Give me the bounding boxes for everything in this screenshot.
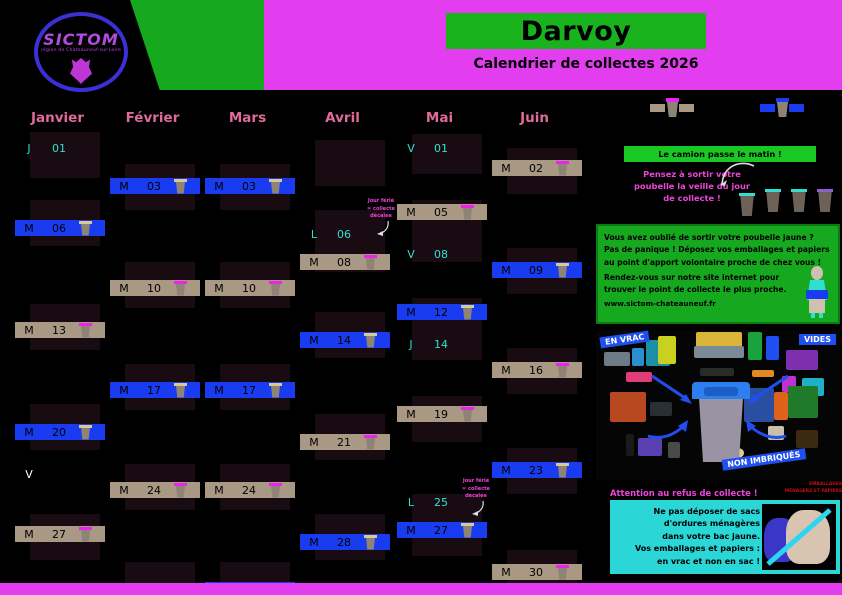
recycling-photo: EN VRAC VIDES NON IMBRIQUÉS	[596, 330, 840, 480]
warning-title: Attention au refus de collecte !	[610, 488, 758, 498]
day-number: 14	[425, 338, 457, 351]
day-number: 05	[425, 206, 457, 219]
month-column-juin: JuinM02M09M16M23M30	[487, 96, 582, 585]
day-letter: M	[300, 536, 328, 549]
street-bin-4	[817, 189, 833, 212]
arrow-icon-1	[650, 374, 694, 408]
month-name: Avril	[295, 110, 390, 126]
day-number: 03	[233, 180, 265, 193]
poster-subtitle: Calendrier de collectes 2026	[446, 56, 726, 72]
warning-line-4: Vos emballages et papiers :	[616, 543, 760, 555]
day-letter: M	[110, 282, 138, 295]
day-letter: M	[15, 324, 43, 337]
day-letter: L	[300, 228, 328, 241]
info-line-1: Vous avez oublié de sortir votre poubell…	[604, 226, 832, 244]
month-name: Mars	[200, 110, 295, 126]
holiday-note-arrow-icon	[375, 220, 391, 236]
calendar-grid: JanvierJ01M06M13M20VM27FévrierM03M10M17M…	[0, 96, 592, 585]
month-column-janvier: JanvierJ01M06M13M20VM27	[10, 96, 105, 585]
bin-icon-yellow	[269, 383, 282, 398]
bin-icon-yellow	[461, 305, 474, 320]
calendar-day-row[interactable]: M27	[397, 522, 487, 538]
calendar-day-row[interactable]: M27	[15, 526, 105, 542]
day-number: 12	[425, 306, 457, 319]
holiday-note-line: Jour férié	[357, 198, 405, 206]
calendar-poster: SICTOM région de Châteauneuf-sur-Loire D…	[0, 0, 842, 595]
town-title-box: Darvoy	[446, 13, 706, 49]
day-number: 01	[43, 142, 75, 155]
day-number: 08	[328, 256, 360, 269]
day-number: 23	[520, 464, 552, 477]
bin-icon-yellow	[556, 463, 569, 478]
calendar-day-row[interactable]: M17	[205, 382, 295, 398]
day-number: 24	[233, 484, 265, 497]
month-column-avril: AvrilL06M08M14M21M28	[295, 96, 390, 585]
day-letter: L	[397, 496, 425, 509]
day-number: 13	[43, 324, 75, 337]
bin-icon-yellow	[364, 333, 377, 348]
day-letter: M	[492, 162, 520, 175]
info-line-3: au point d'apport volontaire proche de c…	[604, 257, 832, 269]
day-number: 06	[328, 228, 360, 241]
calendar-day-row[interactable]: M12	[397, 304, 487, 320]
day-letter: M	[300, 334, 328, 347]
calendar-day-row[interactable]: M19	[397, 406, 487, 422]
bin-icon-yellow	[174, 383, 187, 398]
calendar-day-row[interactable]: M16	[492, 362, 582, 378]
day-letter: J	[397, 338, 425, 351]
day-number: 14	[328, 334, 360, 347]
day-letter: V	[15, 468, 43, 481]
day-number: 27	[425, 524, 457, 537]
day-letter: M	[492, 264, 520, 277]
warning-sub-line-2: MÉNAGERS ET PAPIERS	[762, 489, 842, 496]
info-url[interactable]: www.sictom-chateauneuf.fr	[604, 296, 832, 310]
bin-icon-magenta	[556, 363, 569, 378]
warning-sub-line-1: EMBALLAGES	[762, 482, 842, 489]
day-number: 02	[520, 162, 552, 175]
calendar-day-row[interactable]: M21	[300, 434, 390, 450]
street-bins-illustration	[737, 176, 842, 216]
street-bin-1	[739, 193, 755, 216]
calendar-day-row[interactable]: M23	[492, 462, 582, 478]
calendar-day-row[interactable]: M24	[205, 482, 295, 498]
day-letter: M	[110, 180, 138, 193]
warning-line-1: Ne pas déposer de sacs	[616, 506, 760, 518]
prohibition-slash-icon	[764, 506, 834, 568]
info-line-5: trouver le point de collecte le plus pro…	[604, 284, 832, 296]
month-name: Juin	[487, 110, 582, 126]
bin-icon-yellow	[174, 179, 187, 194]
day-letter: M	[492, 566, 520, 579]
day-number: 01	[425, 142, 457, 155]
bin-icon-magenta	[364, 435, 377, 450]
day-letter: M	[15, 426, 43, 439]
day-letter: M	[492, 464, 520, 477]
calendar-day-row[interactable]: V	[15, 466, 105, 482]
calendar-day-row[interactable]: M06	[15, 220, 105, 236]
bin-icon-magenta	[364, 255, 377, 270]
day-number: 30	[520, 566, 552, 579]
calendar-day-row[interactable]: J01	[15, 140, 105, 156]
day-number: 10	[233, 282, 265, 295]
warning-line-3: dans votre bac jaune.	[616, 531, 760, 543]
trash-bags-photo	[762, 504, 836, 570]
street-bin-2	[765, 189, 781, 212]
bin-icon-magenta	[79, 527, 92, 542]
info-green-box: Vous avez oublié de sortir votre poubell…	[596, 224, 840, 324]
bin-icon-magenta	[556, 161, 569, 176]
calendar-day-row[interactable]: M17	[110, 382, 200, 398]
day-letter: M	[397, 524, 425, 537]
day-number: 06	[43, 222, 75, 235]
day-letter: M	[15, 222, 43, 235]
calendar-day-row[interactable]: M13	[15, 322, 105, 338]
logo-subtitle: région de Châteauneuf-sur-Loire	[26, 48, 136, 53]
bin-icon-magenta	[556, 565, 569, 580]
calendar-day-row[interactable]: M24	[110, 482, 200, 498]
calendar-day-row[interactable]: V08	[397, 246, 487, 262]
calendar-day-row[interactable]: M20	[15, 424, 105, 440]
calendar-day-row[interactable]: V01	[397, 140, 487, 156]
bin-icon-magenta	[174, 483, 187, 498]
month-name: Février	[105, 110, 200, 126]
day-letter: M	[110, 484, 138, 497]
bin-icon-magenta	[269, 281, 282, 296]
legend-bin-yellow	[650, 96, 694, 118]
calendar-day-row[interactable]: M08	[300, 254, 390, 270]
holiday-note-arrow-icon	[470, 500, 486, 516]
arrow-icon-2	[746, 374, 790, 408]
yellow-bin-photo	[692, 382, 750, 462]
sictom-logo: SICTOM région de Châteauneuf-sur-Loire	[26, 8, 132, 94]
holiday-note: Jour férié= collectedécalée	[452, 478, 500, 501]
warning-line-2: d'ordures ménagères	[616, 518, 760, 530]
info-line-4: Rendez-vous sur notre site internet pour	[604, 269, 832, 284]
day-number: 24	[138, 484, 170, 497]
day-number: 08	[425, 248, 457, 261]
warning-box: Ne pas déposer de sacs d'ordures ménagèr…	[610, 500, 840, 574]
calendar-day-row[interactable]: M09	[492, 262, 582, 278]
day-letter: M	[300, 256, 328, 269]
day-letter: M	[205, 282, 233, 295]
day-number: 17	[138, 384, 170, 397]
day-number: 10	[138, 282, 170, 295]
calendar-day-row[interactable]: M03	[205, 178, 295, 194]
holiday-note-line: = collecte	[357, 206, 405, 214]
month-name: Mai	[392, 110, 487, 126]
day-letter: M	[492, 364, 520, 377]
calendar-day-row[interactable]: M14	[300, 332, 390, 348]
bin-icon-magenta	[461, 407, 474, 422]
day-letter: M	[15, 528, 43, 541]
calendar-day-row[interactable]: M28	[300, 534, 390, 550]
day-number: 20	[43, 426, 75, 439]
bin-icon-magenta	[174, 281, 187, 296]
day-letter: M	[205, 180, 233, 193]
poster-header: SICTOM région de Châteauneuf-sur-Loire D…	[0, 0, 842, 96]
warning-subtitle: EMBALLAGES MÉNAGERS ET PAPIERS	[762, 482, 842, 495]
bin-icon-magenta	[269, 483, 282, 498]
legend-bin-blue	[760, 96, 804, 118]
calendar-day-row[interactable]: M03	[110, 178, 200, 194]
calendar-day-row[interactable]: M30	[492, 564, 582, 580]
photo-tag-en-vrac: EN VRAC	[599, 331, 649, 349]
bin-icon-yellow	[556, 263, 569, 278]
day-number: 27	[43, 528, 75, 541]
calendar-day-row[interactable]: M10	[110, 280, 200, 296]
day-number: 21	[328, 436, 360, 449]
calendar-day-row[interactable]: M10	[205, 280, 295, 296]
day-letter: M	[205, 484, 233, 497]
warning-text: Ne pas déposer de sacs d'ordures ménagèr…	[616, 506, 760, 568]
day-number: 16	[520, 364, 552, 377]
month-name: Janvier	[10, 110, 105, 126]
calendar-day-row[interactable]: M05	[397, 204, 487, 220]
logo-name: SICTOM	[26, 30, 136, 49]
footer-strip	[0, 583, 842, 595]
warning-line-5: en vrac et non en sac !	[616, 556, 760, 568]
holiday-note-line: Jour férié	[452, 478, 500, 486]
bin-icon-yellow	[269, 179, 282, 194]
day-letter: M	[205, 384, 233, 397]
info-panel: Le camion passe le matin ! Pensez à sort…	[592, 96, 842, 585]
bin-icon-yellow	[461, 523, 474, 538]
header-green-shape	[130, 0, 265, 90]
day-letter: V	[397, 248, 425, 261]
arrow-icon-3	[646, 418, 690, 444]
calendar-day-row[interactable]: M02	[492, 160, 582, 176]
day-letter: M	[110, 384, 138, 397]
holiday-note: Jour férié= collectedécalée	[357, 198, 405, 221]
month-column-mars: MarsM03M10M17M24M31	[200, 96, 295, 585]
month-column-février: FévrierM03M10M17M24	[105, 96, 200, 585]
day-number: 09	[520, 264, 552, 277]
day-letter: J	[15, 142, 43, 155]
day-letter: M	[397, 408, 425, 421]
bin-icon-yellow	[79, 221, 92, 236]
day-letter: M	[300, 436, 328, 449]
day-number: 17	[233, 384, 265, 397]
day-number: 19	[425, 408, 457, 421]
bin-icon-yellow	[79, 425, 92, 440]
arrow-icon-4	[744, 418, 788, 444]
holiday-note-line: = collecte	[452, 486, 500, 494]
week-block	[315, 140, 385, 186]
person-recycling-icon	[800, 266, 834, 318]
calendar-day-row[interactable]: J14	[397, 336, 487, 352]
info-line-2: Pas de panique ! Déposez vos emballages …	[604, 244, 832, 256]
day-letter: M	[397, 306, 425, 319]
day-letter: V	[397, 142, 425, 155]
bin-icon-magenta	[461, 205, 474, 220]
town-title: Darvoy	[521, 16, 632, 47]
bin-icon-yellow	[364, 535, 377, 550]
photo-tag-vides: VIDES	[799, 334, 836, 345]
day-number: 28	[328, 536, 360, 549]
bin-icon-magenta	[79, 323, 92, 338]
day-number: 03	[138, 180, 170, 193]
street-bin-3	[791, 189, 807, 212]
